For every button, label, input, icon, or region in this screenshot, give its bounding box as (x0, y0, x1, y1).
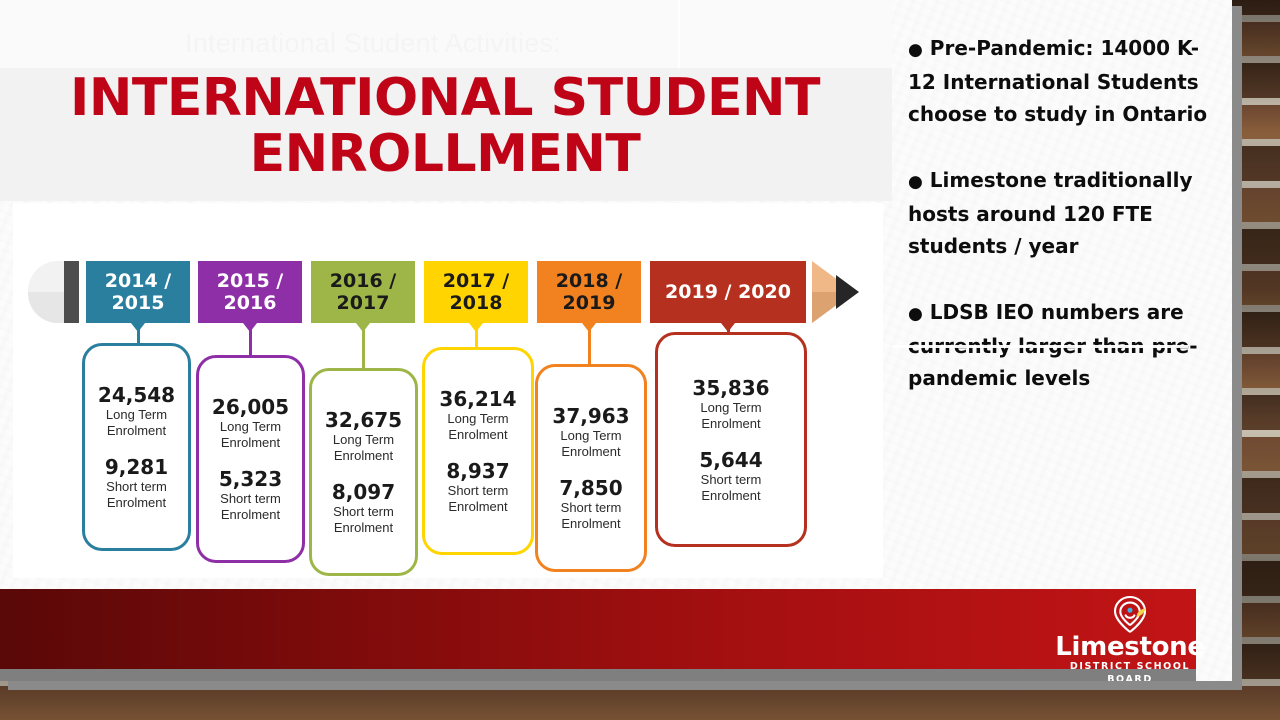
short-term-value: 9,281 (105, 455, 168, 479)
long-term-label: Long Term (220, 419, 281, 435)
limestone-pin-icon (1107, 594, 1153, 634)
year-header-block[interactable]: 2018 /2019 (537, 261, 641, 323)
year-connector-line (249, 323, 252, 358)
short-term-label-2: Enrolment (448, 499, 507, 515)
long-term-label-2: Enrolment (107, 423, 166, 439)
year-label-line1: 2014 / (105, 270, 171, 292)
short-term-label: Short term (701, 472, 762, 488)
short-term-label: Short term (106, 479, 167, 495)
slide-stage: International Student Activities: Intern… (0, 0, 1280, 720)
key-facts-list: ● Pre-Pandemic: 14000 K-12 International… (908, 32, 1208, 428)
long-term-label: Long Term (560, 428, 621, 444)
year-label-line1: 2017 / (443, 270, 509, 292)
long-term-value: 24,548 (98, 383, 175, 407)
logo-wordmark: Limestone (1050, 634, 1210, 660)
pencil-ferrule-icon (64, 261, 79, 323)
short-term-label: Short term (561, 500, 622, 516)
enrollment-card[interactable]: 35,836Long TermEnrolment5,644Short termE… (655, 332, 807, 547)
year-connector-line (475, 323, 478, 350)
long-term-label-2: Enrolment (701, 416, 760, 432)
year-label-line2: 2017 (330, 292, 396, 314)
short-term-label-2: Enrolment (221, 507, 280, 523)
slide-right-shadow (1232, 8, 1242, 684)
year-label-line2: 2015 (105, 292, 171, 314)
key-fact-text: Pre-Pandemic: 14000 K-12 International S… (908, 36, 1207, 126)
year-header-block[interactable]: 2019 / 2020 (650, 261, 806, 323)
short-term-label: Short term (333, 504, 394, 520)
short-term-label-2: Enrolment (107, 495, 166, 511)
long-term-label: Long Term (106, 407, 167, 423)
enrollment-card[interactable]: 24,548Long TermEnrolment9,281Short termE… (82, 343, 191, 551)
year-header-block[interactable]: 2014 /2015 (86, 261, 190, 323)
footer-bar (0, 589, 1196, 669)
long-term-value: 32,675 (325, 408, 402, 432)
year-header-block[interactable]: 2017 /2018 (424, 261, 528, 323)
short-term-label: Short term (220, 491, 281, 507)
slide-kicker: International Student Activities: (185, 28, 561, 59)
year-label-line1: 2015 / (217, 270, 283, 292)
year-label-line2: 2016 (217, 292, 283, 314)
presentation-slide: International Student Activities: Intern… (0, 0, 1232, 681)
year-label: 2019 / 2020 (665, 281, 791, 303)
short-term-value: 8,097 (332, 480, 395, 504)
footer-shadow (0, 669, 1196, 681)
short-term-value: 8,937 (446, 459, 509, 483)
limestone-logo: Limestone DISTRICT SCHOOL BOARD (1050, 594, 1210, 666)
key-fact-item: ● Limestone traditionally hosts around 1… (908, 164, 1208, 262)
year-label-line1: 2018 / (556, 270, 622, 292)
bullet-dot-icon: ● (908, 304, 923, 324)
enrollment-card[interactable]: 26,005Long TermEnrolment5,323Short termE… (196, 355, 305, 563)
year-label-line2: 2019 (556, 292, 622, 314)
year-connector-line (362, 323, 365, 371)
year-header-block[interactable]: 2016 /2017 (311, 261, 415, 323)
pencil-lead-icon (836, 275, 859, 309)
logo-subtitle: DISTRICT SCHOOL BOARD (1050, 660, 1210, 681)
year-label-line2: 2018 (443, 292, 509, 314)
long-term-value: 26,005 (212, 395, 289, 419)
short-term-label-2: Enrolment (701, 488, 760, 504)
long-term-value: 35,836 (692, 376, 769, 400)
long-term-label: Long Term (333, 432, 394, 448)
bullet-dot-icon: ● (908, 172, 923, 192)
key-fact-text: Limestone traditionally hosts around 120… (908, 168, 1193, 258)
long-term-label-2: Enrolment (561, 444, 620, 460)
page-title: International Student Enrollment (20, 70, 870, 182)
long-term-value: 37,963 (552, 404, 629, 428)
short-term-label: Short term (448, 483, 509, 499)
bullet-dot-icon: ● (908, 40, 923, 60)
short-term-label-2: Enrolment (334, 520, 393, 536)
long-term-label: Long Term (447, 411, 508, 427)
long-term-label-2: Enrolment (334, 448, 393, 464)
enrollment-card[interactable]: 36,214Long TermEnrolment8,937Short termE… (422, 347, 534, 555)
short-term-value: 7,850 (559, 476, 622, 500)
decorative-rule (892, 345, 1188, 348)
year-header-block[interactable]: 2015 /2016 (198, 261, 302, 323)
short-term-value: 5,644 (699, 448, 762, 472)
long-term-label-2: Enrolment (221, 435, 280, 451)
long-term-value: 36,214 (439, 387, 516, 411)
enrollment-card[interactable]: 32,675Long TermEnrolment8,097Short termE… (309, 368, 418, 576)
long-term-label-2: Enrolment (448, 427, 507, 443)
title-divider (678, 0, 680, 68)
year-connector-line (588, 323, 591, 367)
long-term-label: Long Term (700, 400, 761, 416)
short-term-label-2: Enrolment (561, 516, 620, 532)
enrollment-card[interactable]: 37,963Long TermEnrolment7,850Short termE… (535, 364, 647, 572)
key-fact-item: ● Pre-Pandemic: 14000 K-12 International… (908, 32, 1208, 130)
year-label-line1: 2016 / (330, 270, 396, 292)
short-term-value: 5,323 (219, 467, 282, 491)
